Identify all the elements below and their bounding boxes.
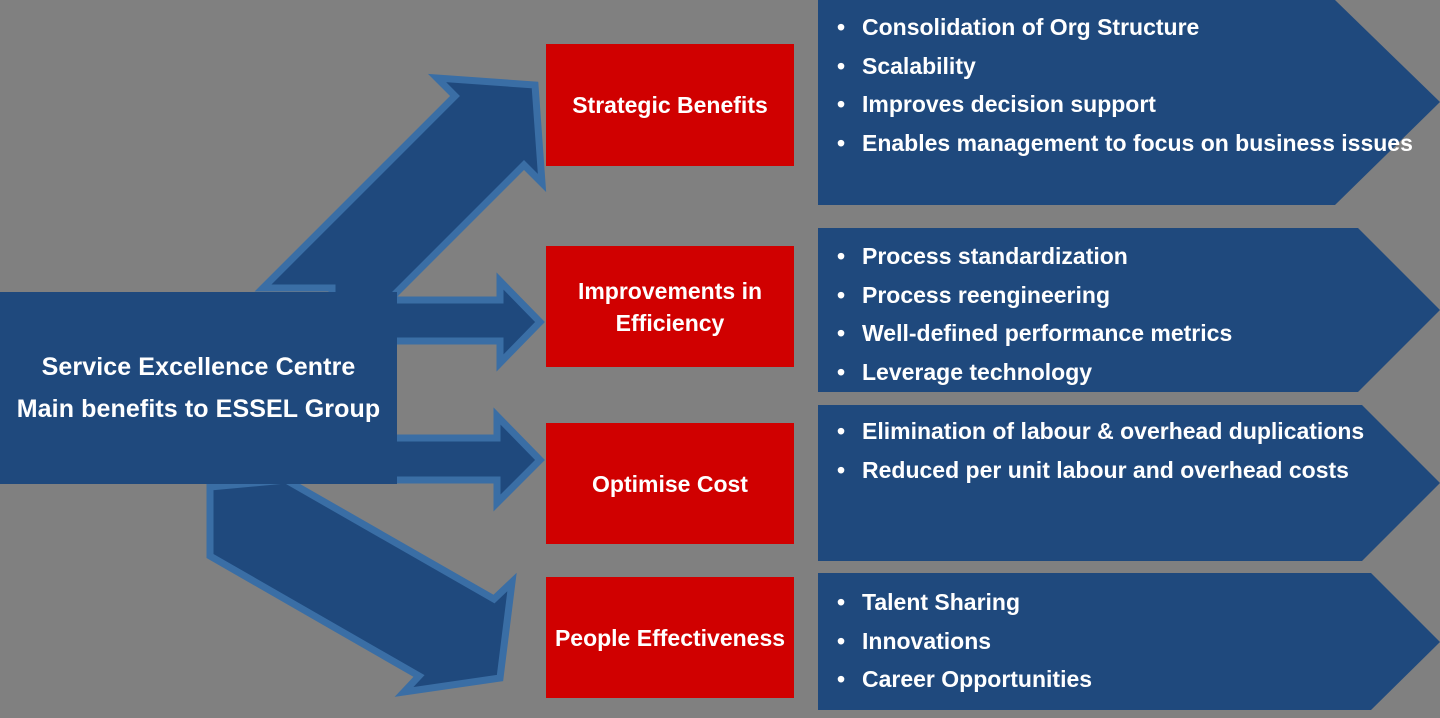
detail-text: Innovations: [862, 628, 991, 654]
detail-text: Reduced per unit labour and overhead cos…: [862, 457, 1349, 483]
category-box-optimise-cost[interactable]: Optimise Cost: [546, 423, 794, 544]
details-chevron-optimise-cost: •Elimination of labour & overhead duplic…: [818, 405, 1440, 561]
detail-text: Scalability: [862, 53, 976, 79]
detail-list-item: •Reduced per unit labour and overhead co…: [818, 451, 1440, 490]
detail-list-item: •Innovations: [818, 622, 1440, 661]
detail-text: Enables management to focus on business …: [862, 130, 1413, 156]
details-list: •Consolidation of Org Structure•Scalabil…: [818, 0, 1440, 162]
bullet-icon: •: [837, 353, 845, 392]
details-list: •Process standardization•Process reengin…: [818, 228, 1440, 391]
bullet-icon: •: [837, 85, 845, 124]
detail-text: Consolidation of Org Structure: [862, 14, 1199, 40]
detail-text: Improves decision support: [862, 91, 1156, 117]
source-box: Service Excellence Centre Main benefits …: [0, 292, 397, 484]
bullet-icon: •: [837, 451, 845, 490]
detail-text: Career Opportunities: [862, 666, 1092, 692]
bullet-icon: •: [837, 583, 845, 622]
category-box-improvements-in-efficiency[interactable]: Improvements in Efficiency: [546, 246, 794, 367]
detail-list-item: •Talent Sharing: [818, 583, 1440, 622]
detail-list-item: •Scalability: [818, 47, 1440, 86]
category-label: Strategic Benefits: [564, 89, 776, 121]
detail-list-item: •Process standardization: [818, 237, 1440, 276]
detail-list-item: •Leverage technology: [818, 353, 1440, 392]
details-chevron-people-effectiveness: •Talent Sharing•Innovations•Career Oppor…: [818, 573, 1440, 710]
detail-text: Well-defined performance metrics: [862, 320, 1232, 346]
detail-text: Process standardization: [862, 243, 1128, 269]
detail-text: Leverage technology: [862, 359, 1092, 385]
detail-list-item: •Consolidation of Org Structure: [818, 8, 1440, 47]
bullet-icon: •: [837, 237, 845, 276]
category-box-strategic-benefits[interactable]: Strategic Benefits: [546, 44, 794, 166]
details-chevron-improvements-in-efficiency: •Process standardization•Process reengin…: [818, 228, 1440, 392]
category-label: People Effectiveness: [547, 622, 793, 654]
source-title-line-1: Service Excellence Centre: [42, 346, 356, 388]
bullet-icon: •: [837, 314, 845, 353]
diagonal-down-arrow: [210, 480, 512, 692]
right-arrow-optimise-cost: [380, 416, 540, 503]
detail-list-item: •Improves decision support: [818, 85, 1440, 124]
bullet-icon: •: [837, 276, 845, 315]
detail-list-item: •Process reengineering: [818, 276, 1440, 315]
detail-text: Process reengineering: [862, 282, 1110, 308]
diagram-canvas: Service Excellence Centre Main benefits …: [0, 0, 1440, 718]
category-label: Improvements in Efficiency: [546, 275, 794, 339]
detail-list-item: •Career Opportunities: [818, 660, 1440, 699]
detail-list-item: •Well-defined performance metrics: [818, 314, 1440, 353]
bullet-icon: •: [837, 8, 845, 47]
bullet-icon: •: [837, 47, 845, 86]
detail-text: Talent Sharing: [862, 589, 1020, 615]
category-box-people-effectiveness[interactable]: People Effectiveness: [546, 577, 794, 698]
details-list: •Elimination of labour & overhead duplic…: [818, 405, 1440, 489]
category-label: Optimise Cost: [584, 468, 756, 500]
details-chevron-strategic-benefits: •Consolidation of Org Structure•Scalabil…: [818, 0, 1440, 205]
bullet-icon: •: [837, 412, 845, 451]
detail-list-item: •Elimination of labour & overhead duplic…: [818, 412, 1440, 451]
right-arrow-efficiency: [380, 281, 540, 363]
detail-text: Elimination of labour & overhead duplica…: [862, 418, 1364, 444]
bullet-icon: •: [837, 124, 845, 163]
bullet-icon: •: [837, 660, 845, 699]
details-list: •Talent Sharing•Innovations•Career Oppor…: [818, 573, 1440, 699]
source-title-line-2: Main benefits to ESSEL Group: [17, 388, 380, 430]
detail-list-item: •Enables management to focus on business…: [818, 124, 1440, 163]
bullet-icon: •: [837, 622, 845, 661]
